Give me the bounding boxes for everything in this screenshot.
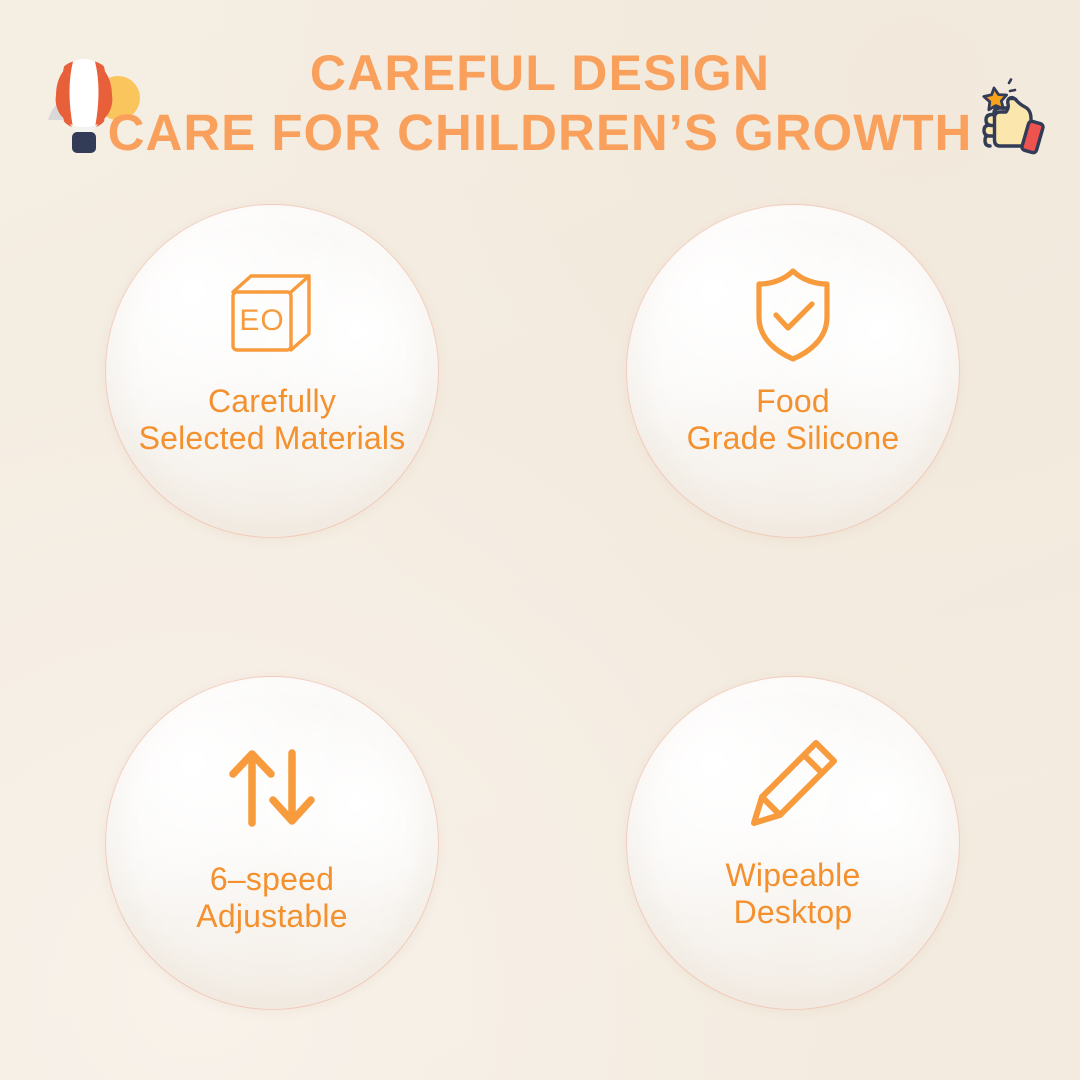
feature-label-line-2: Adjustable bbox=[196, 898, 347, 935]
feature-label-line-2: Selected Materials bbox=[139, 420, 406, 457]
feature-label: Carefully Selected Materials bbox=[139, 383, 406, 457]
feature-label: 6–speed Adjustable bbox=[196, 861, 347, 935]
feature-label: Wipeable Desktop bbox=[725, 857, 860, 931]
shield-check-icon bbox=[743, 263, 843, 367]
feature-card-food-grade-silicone[interactable]: Food Grade Silicone bbox=[626, 204, 960, 538]
feature-label-line-1: Food bbox=[756, 383, 830, 419]
promo-banner: CAREFUL DESIGN CARE FOR CHILDREN’S GROWT… bbox=[0, 0, 1080, 1080]
feature-card-carefully-selected-materials[interactable]: EO Carefully Selected Materials bbox=[105, 204, 439, 538]
feature-label-line-1: 6–speed bbox=[210, 861, 334, 897]
feature-label-line-1: Carefully bbox=[208, 383, 336, 419]
eo-box-icon: EO bbox=[220, 263, 324, 367]
feature-label-line-1: Wipeable bbox=[725, 857, 860, 893]
svg-text:EO: EO bbox=[239, 304, 284, 337]
feature-card-6-speed-adjustable[interactable]: 6–speed Adjustable bbox=[105, 676, 439, 1010]
up-down-arrows-icon bbox=[224, 737, 320, 841]
pencil-icon bbox=[744, 733, 842, 837]
feature-card-wipeable-desktop[interactable]: Wipeable Desktop bbox=[626, 676, 960, 1010]
feature-label-line-2: Desktop bbox=[725, 894, 860, 931]
feature-grid: EO Carefully Selected Materials Food bbox=[0, 0, 1080, 1080]
feature-label-line-2: Grade Silicone bbox=[687, 420, 900, 457]
feature-label: Food Grade Silicone bbox=[687, 383, 900, 457]
